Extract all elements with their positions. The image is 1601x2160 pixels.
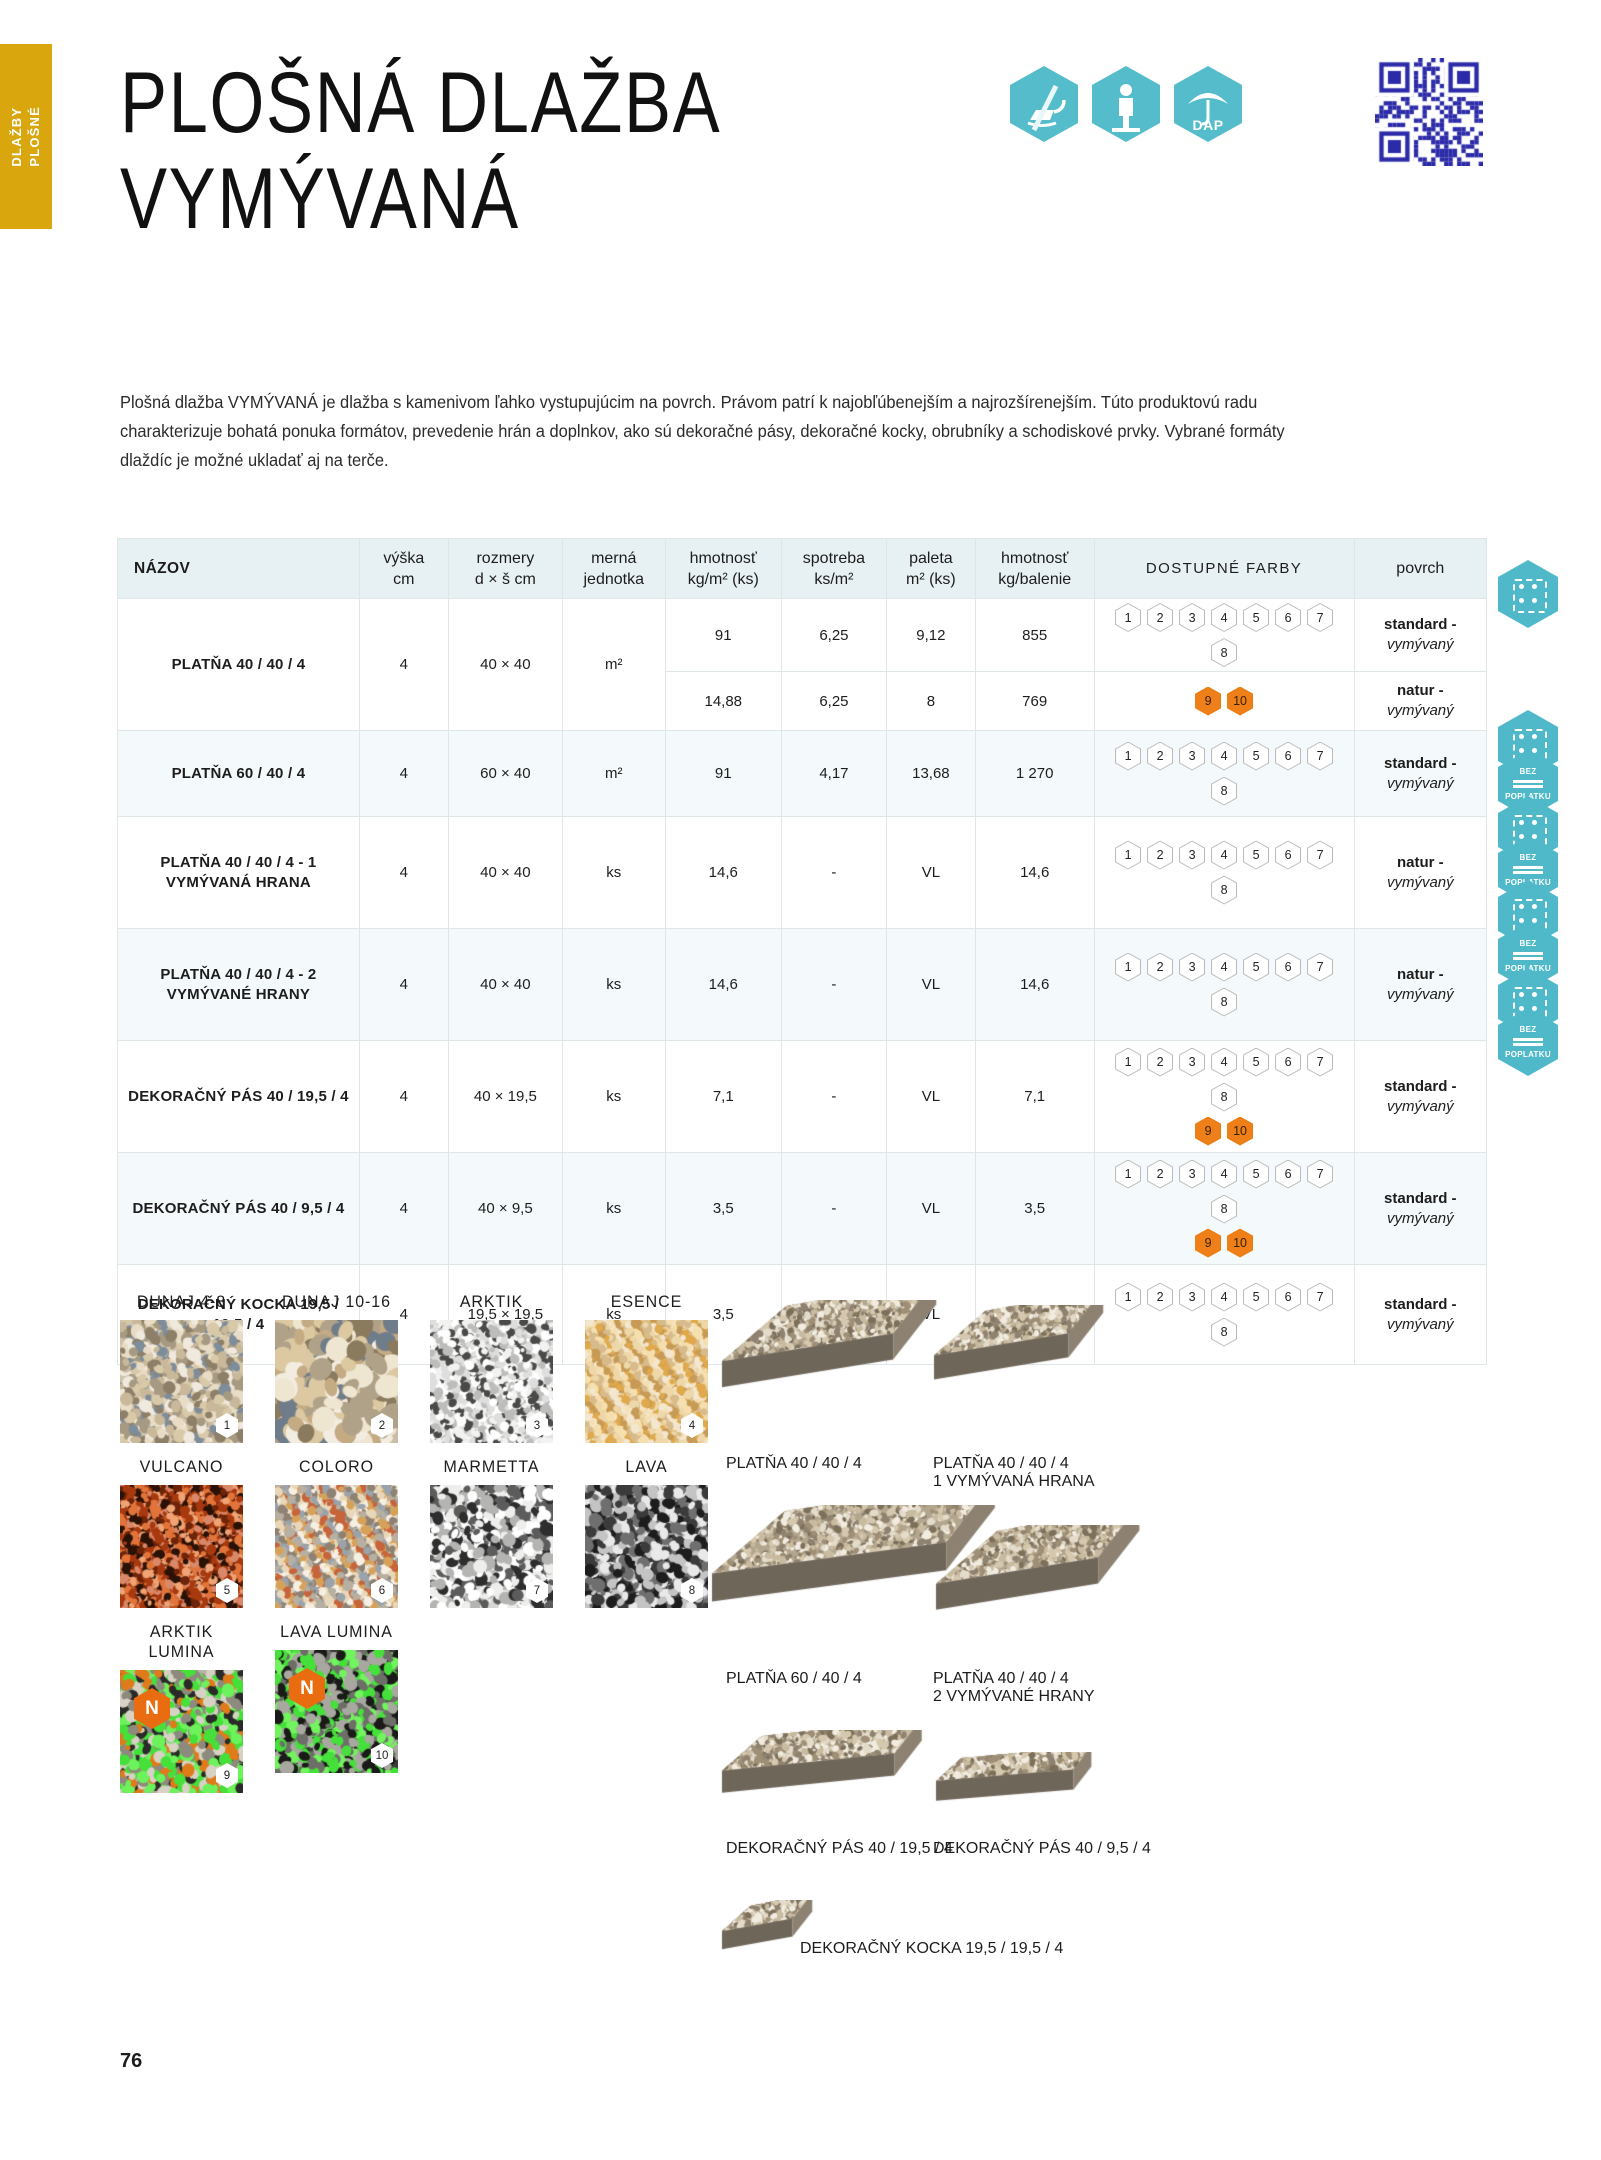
- color-chip[interactable]: 8: [1211, 988, 1237, 1017]
- povrch-finish: vymývaný: [1387, 702, 1454, 719]
- cell-colors: 12345678: [1094, 599, 1354, 672]
- spec-table: NÁZOV výškacm rozmeryd × š cm mernájedno…: [117, 538, 1487, 1365]
- no-snowplow-icon: [1010, 66, 1078, 142]
- cell-vyska: 4: [359, 1153, 448, 1265]
- bez-top: BEZ: [1520, 767, 1537, 776]
- th-vyska-l1: výška: [383, 550, 424, 567]
- color-chip[interactable]: 5: [1243, 1048, 1269, 1077]
- color-chip-label: 5: [1244, 604, 1268, 631]
- color-chip[interactable]: 2: [1147, 1283, 1173, 1312]
- color-chip-label: 1: [1116, 1161, 1140, 1188]
- color-chip-group: 12345678: [1101, 742, 1348, 806]
- th-merna: mernájednotka: [562, 539, 665, 599]
- product-slab-image: [934, 1525, 1167, 1638]
- povrch-type: natur -: [1397, 682, 1444, 699]
- color-chip-label: 7: [1308, 1049, 1332, 1076]
- table-row: PLATŇA 40 / 40 / 4440 × 40m²916,259,1285…: [118, 599, 1487, 672]
- color-chip-label: 7: [1308, 604, 1332, 631]
- th-paleta-l1: paleta: [909, 550, 953, 567]
- product-photo: [720, 1730, 949, 1820]
- color-chip-label: 2: [1148, 1049, 1172, 1076]
- color-chip[interactable]: 1: [1115, 742, 1141, 771]
- th-merna-l1: merná: [591, 550, 636, 567]
- table-row: PLATŇA 60 / 40 / 4460 × 40m²914,1713,681…: [118, 731, 1487, 817]
- color-chip[interactable]: 4: [1211, 742, 1237, 771]
- color-chip-group-new: 910: [1101, 1117, 1348, 1146]
- cell-vyska: 4: [359, 599, 448, 731]
- povrch-type: standard -: [1384, 616, 1457, 633]
- color-chip-label: 2: [1148, 743, 1172, 770]
- product-slab-image: [932, 1305, 1131, 1407]
- cell-rozmery: 40 × 40: [448, 817, 562, 929]
- cell-merna: m²: [562, 599, 665, 731]
- cell-rozmery: 40 × 40: [448, 599, 562, 731]
- color-chip[interactable]: 6: [1275, 1048, 1301, 1077]
- color-chip[interactable]: 3: [1179, 1048, 1205, 1077]
- cell-hmotnost1: 91: [665, 731, 781, 817]
- color-chip-label: 2: [1148, 954, 1172, 981]
- color-chip[interactable]: 5: [1243, 841, 1269, 870]
- th-hmotnost2-l2: kg/balenie: [998, 571, 1071, 588]
- color-chip[interactable]: 1: [1115, 1048, 1141, 1077]
- cell-name: PLATŇA 40 / 40 / 4 - 2 VYMÝVANÉ HRANY: [118, 929, 360, 1041]
- qr-code[interactable]: [1375, 58, 1483, 166]
- color-chip-label: 7: [1308, 842, 1332, 869]
- product-caption: PLATŇA 40 / 40 / 42 VYMÝVANÉ HRANY: [933, 1670, 1095, 1706]
- color-chip[interactable]: 2: [1147, 841, 1173, 870]
- pedestrian-icon: [1092, 66, 1160, 142]
- color-swatch[interactable]: ESENCE4: [585, 1292, 708, 1443]
- swatch-image: N10: [275, 1650, 398, 1773]
- povrch-finish: vymývaný: [1387, 1210, 1454, 1227]
- th-povrch: povrch: [1354, 539, 1486, 599]
- color-chip[interactable]: 5: [1243, 1283, 1269, 1312]
- color-chip[interactable]: 4: [1211, 953, 1237, 982]
- th-hmotnost1-l2: kg/m² (ks): [688, 571, 759, 588]
- cell-povrch: natur -vymývaný: [1354, 672, 1486, 731]
- color-chip-label: 6: [1276, 604, 1300, 631]
- color-swatch[interactable]: ARKTIK3: [430, 1292, 553, 1443]
- spec-table-wrap: NÁZOV výškacm rozmeryd × š cm mernájedno…: [117, 538, 1487, 1365]
- color-chip-label: 3: [1180, 1049, 1204, 1076]
- product-photo: [934, 1752, 1119, 1828]
- color-chip-label: 8: [1212, 1319, 1236, 1346]
- color-chip-label: 10: [1228, 1230, 1252, 1257]
- cell-merna: ks: [562, 1041, 665, 1153]
- cell-spotreba: 6,25: [781, 599, 886, 672]
- cell-hmotnost2: 14,6: [975, 929, 1094, 1041]
- povrch-type: standard -: [1384, 1296, 1457, 1313]
- cell-colors: 12345678: [1094, 1265, 1354, 1365]
- color-chip[interactable]: 7: [1307, 1283, 1333, 1312]
- color-chip-label: 8: [1212, 1196, 1236, 1223]
- povrch-finish: vymývaný: [1387, 874, 1454, 891]
- umbrella-dap-icon: DAP: [1174, 66, 1242, 142]
- cell-rozmery: 60 × 40: [448, 731, 562, 817]
- cell-paleta: 9,12: [886, 599, 975, 672]
- color-chip-label: 3: [1180, 1284, 1204, 1311]
- povrch-finish: vymývaný: [1387, 1316, 1454, 1333]
- cell-spotreba: -: [781, 1041, 886, 1153]
- color-swatch[interactable]: DUNAJ 10-162: [275, 1292, 398, 1443]
- color-chip[interactable]: 4: [1211, 1048, 1237, 1077]
- cell-spotreba: -: [781, 929, 886, 1041]
- color-swatch[interactable]: COLORO6: [275, 1457, 398, 1608]
- color-chip-label: 3: [1180, 743, 1204, 770]
- product-caption-line1: PLATŇA 60 / 40 / 4: [726, 1670, 862, 1688]
- th-rozmery: rozmeryd × š cm: [448, 539, 562, 599]
- product-caption: PLATŇA 40 / 40 / 41 VYMÝVANÁ HRANA: [933, 1455, 1095, 1491]
- th-hmotnost1-l1: hmotnosť: [690, 550, 757, 567]
- color-chip-label: 7: [1308, 954, 1332, 981]
- cell-paleta: VL: [886, 1041, 975, 1153]
- cell-povrch: standard -vymývaný: [1354, 599, 1486, 672]
- color-chip-label: 8: [1212, 639, 1236, 666]
- color-chip-label: 5: [1244, 954, 1268, 981]
- table-row: PLATŇA 40 / 40 / 4 - 2 VYMÝVANÉ HRANY440…: [118, 929, 1487, 1041]
- section-tab-line1: DLAŽBY: [9, 107, 24, 167]
- cell-hmotnost2: 855: [975, 599, 1094, 672]
- color-chip-label: 1: [1116, 1049, 1140, 1076]
- color-chip[interactable]: 8: [1211, 777, 1237, 806]
- color-chip-label: 10: [1228, 1118, 1252, 1145]
- color-chip[interactable]: 3: [1179, 1283, 1205, 1312]
- color-chip-group: 12345678: [1101, 603, 1348, 667]
- table-row: DEKORAČNÝ PÁS 40 / 9,5 / 4440 × 9,5ks3,5…: [118, 1153, 1487, 1265]
- color-chip-group: 12345678: [1101, 1160, 1348, 1224]
- color-chip[interactable]: 7: [1307, 953, 1333, 982]
- color-chip-label: 3: [1180, 604, 1204, 631]
- bez-top: BEZ: [1520, 1025, 1537, 1034]
- color-chip-label: 9: [1196, 688, 1220, 715]
- color-chip-label: 4: [1212, 604, 1236, 631]
- color-chip[interactable]: 4: [1211, 1160, 1237, 1189]
- color-chip[interactable]: 6: [1275, 953, 1301, 982]
- table-header-row: NÁZOV výškacm rozmeryd × š cm mernájedno…: [118, 539, 1487, 599]
- table-row: PLATŇA 40 / 40 / 4 - 1 VYMÝVANÁ HRANA440…: [118, 817, 1487, 929]
- product-photo: [934, 1525, 1167, 1638]
- color-chip-label: 4: [1212, 1049, 1236, 1076]
- color-chip-label: 3: [1180, 1161, 1204, 1188]
- color-chip-label: 4: [1212, 954, 1236, 981]
- cell-merna: m²: [562, 731, 665, 817]
- cell-name: PLATŇA 40 / 40 / 4 - 1 VYMÝVANÁ HRANA: [118, 817, 360, 929]
- product-caption-line1: DEKORAČNÝ KOCKA 19,5 / 19,5 / 4: [800, 1940, 1063, 1958]
- color-chip-label: 6: [1276, 1049, 1300, 1076]
- product-photo: [932, 1305, 1131, 1407]
- cell-colors: 12345678910: [1094, 1041, 1354, 1153]
- color-swatch[interactable]: MARMETTA7: [430, 1457, 553, 1608]
- color-chip[interactable]: 3: [1179, 1160, 1205, 1189]
- swatch-image: 2: [275, 1320, 398, 1443]
- cell-hmotnost1: 14,6: [665, 817, 781, 929]
- color-chip[interactable]: 4: [1211, 603, 1237, 632]
- color-chip-label: 8: [1212, 877, 1236, 904]
- color-chip[interactable]: 8: [1211, 638, 1237, 667]
- color-chip-label: 5: [1244, 1284, 1268, 1311]
- cell-colors: 12345678: [1094, 817, 1354, 929]
- swatch-label: COLORO: [279, 1457, 395, 1477]
- product-caption: DEKORAČNÝ PÁS 40 / 9,5 / 4: [933, 1840, 1151, 1858]
- bez-top: BEZ: [1520, 853, 1537, 862]
- color-chip-label: 1: [1116, 604, 1140, 631]
- th-vyska-l2: cm: [393, 571, 414, 588]
- cell-povrch: natur -vymývaný: [1354, 817, 1486, 929]
- color-chip-label: 1: [1116, 954, 1140, 981]
- cell-povrch: standard -vymývaný: [1354, 1153, 1486, 1265]
- color-chip-label: 5: [1244, 743, 1268, 770]
- section-tab-label: DLAŽBYPLOŠNÉ: [8, 106, 44, 167]
- swatch-row: DUNAJ 4-81DUNAJ 10-162ARKTIK3ESENCE4: [120, 1292, 700, 1443]
- color-chip-label: 5: [1244, 1049, 1268, 1076]
- th-hmotnost1: hmotnosťkg/m² (ks): [665, 539, 781, 599]
- th-spotreba-l2: ks/m²: [814, 571, 853, 588]
- color-chip-group: 12345678: [1101, 1283, 1348, 1347]
- cell-spotreba: -: [781, 1153, 886, 1265]
- color-chip[interactable]: 2: [1147, 742, 1173, 771]
- cell-povrch: standard -vymývaný: [1354, 1265, 1486, 1365]
- color-chip[interactable]: 7: [1307, 603, 1333, 632]
- swatch-label: ARKTIK: [434, 1292, 550, 1312]
- color-chip-label: 8: [1212, 1084, 1236, 1111]
- swatch-row: ARKTIK LUMINAN9LAVA LUMINAN10: [120, 1622, 700, 1793]
- cell-hmotnost1: 14,88: [665, 672, 781, 731]
- cell-hmotnost2: 769: [975, 672, 1094, 731]
- color-chip[interactable]: 8: [1211, 1318, 1237, 1347]
- color-chip-label: 6: [1276, 954, 1300, 981]
- product-caption: PLATŇA 60 / 40 / 4: [726, 1670, 862, 1688]
- color-chip[interactable]: 4: [1211, 1283, 1237, 1312]
- color-chip[interactable]: 8: [1211, 1195, 1237, 1224]
- th-merna-l2: jednotka: [583, 571, 644, 588]
- swatch-row: VULCANO5COLORO6MARMETTA7LAVA8: [120, 1457, 700, 1608]
- color-chip-label: 4: [1212, 743, 1236, 770]
- color-chip[interactable]: 3: [1179, 841, 1205, 870]
- color-chip-new[interactable]: 10: [1227, 1117, 1253, 1146]
- swatch-image: N9: [120, 1670, 243, 1793]
- color-chip-label: 4: [1212, 1161, 1236, 1188]
- product-caption: DEKORAČNÝ KOCKA 19,5 / 19,5 / 4: [800, 1940, 1063, 1958]
- th-paleta-l2: m² (ks): [906, 571, 956, 588]
- bez-bars: [1513, 950, 1543, 962]
- th-hmotnost2: hmotnosťkg/balenie: [975, 539, 1094, 599]
- cell-colors: 12345678910: [1094, 1153, 1354, 1265]
- color-chip[interactable]: 2: [1147, 953, 1173, 982]
- color-chip-label: 6: [1276, 1161, 1300, 1188]
- cell-vyska: 4: [359, 929, 448, 1041]
- th-paleta: paletam² (ks): [886, 539, 975, 599]
- intro-paragraph: Plošná dlažba VYMÝVANÁ je dlažba s kamen…: [120, 388, 1304, 475]
- product-caption: PLATŇA 40 / 40 / 4: [726, 1455, 862, 1473]
- section-tab-line2: PLOŠNÉ: [27, 106, 42, 167]
- color-chip-new[interactable]: 9: [1195, 1229, 1221, 1258]
- color-swatch[interactable]: DUNAJ 4-81: [120, 1292, 243, 1443]
- povrch-finish: vymývaný: [1387, 636, 1454, 653]
- color-swatch[interactable]: LAVA LUMINAN10: [275, 1622, 398, 1793]
- cell-colors: 910: [1094, 672, 1354, 731]
- color-chip-label: 10: [1228, 688, 1252, 715]
- cell-name: DEKORAČNÝ PÁS 40 / 19,5 / 4: [118, 1041, 360, 1153]
- color-chip-label: 2: [1148, 1161, 1172, 1188]
- color-chip-label: 6: [1276, 743, 1300, 770]
- color-chip[interactable]: 5: [1243, 1160, 1269, 1189]
- color-chip-group: 12345678: [1101, 953, 1348, 1017]
- page-number: 76: [120, 2050, 142, 2073]
- bez-bars: [1513, 778, 1543, 790]
- product-caption-line1: DEKORAČNÝ PÁS 40 / 9,5 / 4: [933, 1840, 1151, 1858]
- swatch-image: 8: [585, 1485, 708, 1608]
- product-caption-line1: PLATŇA 40 / 40 / 4: [933, 1670, 1095, 1688]
- color-chip[interactable]: 1: [1115, 953, 1141, 982]
- th-vyska: výškacm: [359, 539, 448, 599]
- povrch-type: natur -: [1397, 966, 1444, 983]
- color-chip-label: 9: [1196, 1118, 1220, 1145]
- cell-spotreba: -: [781, 817, 886, 929]
- cell-colors: 12345678: [1094, 929, 1354, 1041]
- color-chip[interactable]: 3: [1179, 603, 1205, 632]
- color-chip-new[interactable]: 9: [1195, 687, 1221, 716]
- color-chip[interactable]: 6: [1275, 1283, 1301, 1312]
- color-chip-group-new: 910: [1101, 687, 1348, 716]
- color-chip[interactable]: 5: [1243, 953, 1269, 982]
- cell-hmotnost2: 3,5: [975, 1153, 1094, 1265]
- swatch-image: 1: [120, 1320, 243, 1443]
- color-swatch[interactable]: VULCANO5: [120, 1457, 243, 1608]
- color-chip-label: 1: [1116, 842, 1140, 869]
- color-chip-group: 12345678: [1101, 1048, 1348, 1112]
- color-chip[interactable]: 7: [1307, 1048, 1333, 1077]
- color-chip[interactable]: 5: [1243, 603, 1269, 632]
- color-chip[interactable]: 7: [1307, 1160, 1333, 1189]
- color-chip-label: 7: [1308, 1284, 1332, 1311]
- color-chip[interactable]: 3: [1179, 742, 1205, 771]
- table-body: PLATŇA 40 / 40 / 4440 × 40m²916,259,1285…: [118, 599, 1487, 1365]
- cell-merna: ks: [562, 817, 665, 929]
- color-chip[interactable]: 5: [1243, 742, 1269, 771]
- color-chip[interactable]: 2: [1147, 1160, 1173, 1189]
- color-chip[interactable]: 6: [1275, 841, 1301, 870]
- color-chip-new[interactable]: 10: [1227, 687, 1253, 716]
- cell-rozmery: 40 × 19,5: [448, 1041, 562, 1153]
- color-chip[interactable]: 4: [1211, 841, 1237, 870]
- color-chip-label: 8: [1212, 778, 1236, 805]
- swatch-label: DUNAJ 4-8: [124, 1292, 240, 1312]
- cell-rozmery: 40 × 9,5: [448, 1153, 562, 1265]
- color-chip-label: 2: [1148, 842, 1172, 869]
- color-chip-label: 9: [1196, 1230, 1220, 1257]
- section-tab: DLAŽBYPLOŠNÉ: [0, 44, 52, 229]
- th-spotreba: spotrebaks/m²: [781, 539, 886, 599]
- cell-povrch: natur -vymývaný: [1354, 929, 1486, 1041]
- cell-name: PLATŇA 60 / 40 / 4: [118, 731, 360, 817]
- cell-spotreba: 4,17: [781, 731, 886, 817]
- color-chip[interactable]: 8: [1211, 876, 1237, 905]
- cell-hmotnost2: 14,6: [975, 817, 1094, 929]
- swatch-label: LAVA LUMINA: [279, 1622, 395, 1642]
- table-row: DEKORAČNÝ PÁS 40 / 19,5 / 4440 × 19,5ks7…: [118, 1041, 1487, 1153]
- color-chip[interactable]: 1: [1115, 841, 1141, 870]
- povrch-type: standard -: [1384, 1078, 1457, 1095]
- th-farby: DOSTUPNÉ FARBY: [1094, 539, 1354, 599]
- cell-hmotnost2: 7,1: [975, 1041, 1094, 1153]
- color-chip-label: 8: [1212, 989, 1236, 1016]
- bez-top: BEZ: [1520, 939, 1537, 948]
- color-chip-label: 7: [1308, 1161, 1332, 1188]
- th-rozmery-l2: d × š cm: [475, 571, 536, 588]
- povrch-type: natur -: [1397, 854, 1444, 871]
- th-spotreba-l1: spotreba: [803, 550, 865, 567]
- cell-hmotnost1: 14,6: [665, 929, 781, 1041]
- product-caption-line1: PLATŇA 40 / 40 / 4: [726, 1455, 862, 1473]
- cell-name: DEKORAČNÝ PÁS 40 / 9,5 / 4: [118, 1153, 360, 1265]
- product-slab-image: [720, 1900, 840, 1977]
- color-chip-label: 7: [1308, 743, 1332, 770]
- bez-bars: [1513, 1036, 1543, 1048]
- color-chip[interactable]: 1: [1115, 603, 1141, 632]
- color-chip-label: 1: [1116, 743, 1140, 770]
- color-chip[interactable]: 6: [1275, 742, 1301, 771]
- swatch-label: MARMETTA: [434, 1457, 550, 1477]
- page-title-line1: PLOŠNÁ DLAŽBA: [120, 55, 721, 151]
- swatch-image: 5: [120, 1485, 243, 1608]
- color-chip[interactable]: 6: [1275, 603, 1301, 632]
- color-chip[interactable]: 8: [1211, 1083, 1237, 1112]
- cell-vyska: 4: [359, 731, 448, 817]
- color-chip-label: 4: [1212, 842, 1236, 869]
- color-chip[interactable]: 6: [1275, 1160, 1301, 1189]
- color-chip-label: 6: [1276, 1284, 1300, 1311]
- cell-paleta: 13,68: [886, 731, 975, 817]
- pedestal-icon: [1498, 560, 1558, 628]
- cell-vyska: 4: [359, 1041, 448, 1153]
- cell-name: PLATŇA 40 / 40 / 4: [118, 599, 360, 731]
- product-photo: [720, 1300, 964, 1416]
- color-chip-label: 4: [1212, 1284, 1236, 1311]
- color-chip-new[interactable]: 10: [1227, 1229, 1253, 1258]
- povrch-finish: vymývaný: [1387, 986, 1454, 1003]
- product-caption-line1: DEKORAČNÝ PÁS 40 / 19,5 / 4: [726, 1840, 953, 1858]
- color-chip-label: 3: [1180, 954, 1204, 981]
- color-chip-new[interactable]: 9: [1195, 1117, 1221, 1146]
- swatch-image: 6: [275, 1485, 398, 1608]
- color-chip-label: 2: [1148, 604, 1172, 631]
- cell-colors: 12345678: [1094, 731, 1354, 817]
- cell-paleta: VL: [886, 1153, 975, 1265]
- swatch-label: LAVA: [589, 1457, 705, 1477]
- th-hmotnost2-l1: hmotnosť: [1001, 550, 1068, 567]
- cell-paleta: VL: [886, 817, 975, 929]
- color-chip[interactable]: 2: [1147, 1048, 1173, 1077]
- color-swatch[interactable]: ARKTIK LUMINAN9: [120, 1622, 243, 1793]
- cell-hmotnost1: 3,5: [665, 1153, 781, 1265]
- page-header: PLOŠNÁ DLAŽBA VYMÝVANÁ: [120, 55, 1480, 247]
- color-chip[interactable]: 7: [1307, 742, 1333, 771]
- product-caption-line1: PLATŇA 40 / 40 / 4: [933, 1455, 1095, 1473]
- color-chip[interactable]: 7: [1307, 841, 1333, 870]
- color-chip-label: 2: [1148, 1284, 1172, 1311]
- color-swatch[interactable]: LAVA8: [585, 1457, 708, 1608]
- product-caption-line2: 2 VYMÝVANÉ HRANY: [933, 1688, 1095, 1706]
- bez-bottom: POPLATKU: [1505, 1050, 1551, 1059]
- color-chip[interactable]: 1: [1115, 1160, 1141, 1189]
- color-chip[interactable]: 2: [1147, 603, 1173, 632]
- cell-povrch: standard -vymývaný: [1354, 1041, 1486, 1153]
- povrch-type: standard -: [1384, 755, 1457, 772]
- swatch-image: 3: [430, 1320, 553, 1443]
- cell-paleta: 8: [886, 672, 975, 731]
- color-chip[interactable]: 3: [1179, 953, 1205, 982]
- cell-rozmery: 40 × 40: [448, 929, 562, 1041]
